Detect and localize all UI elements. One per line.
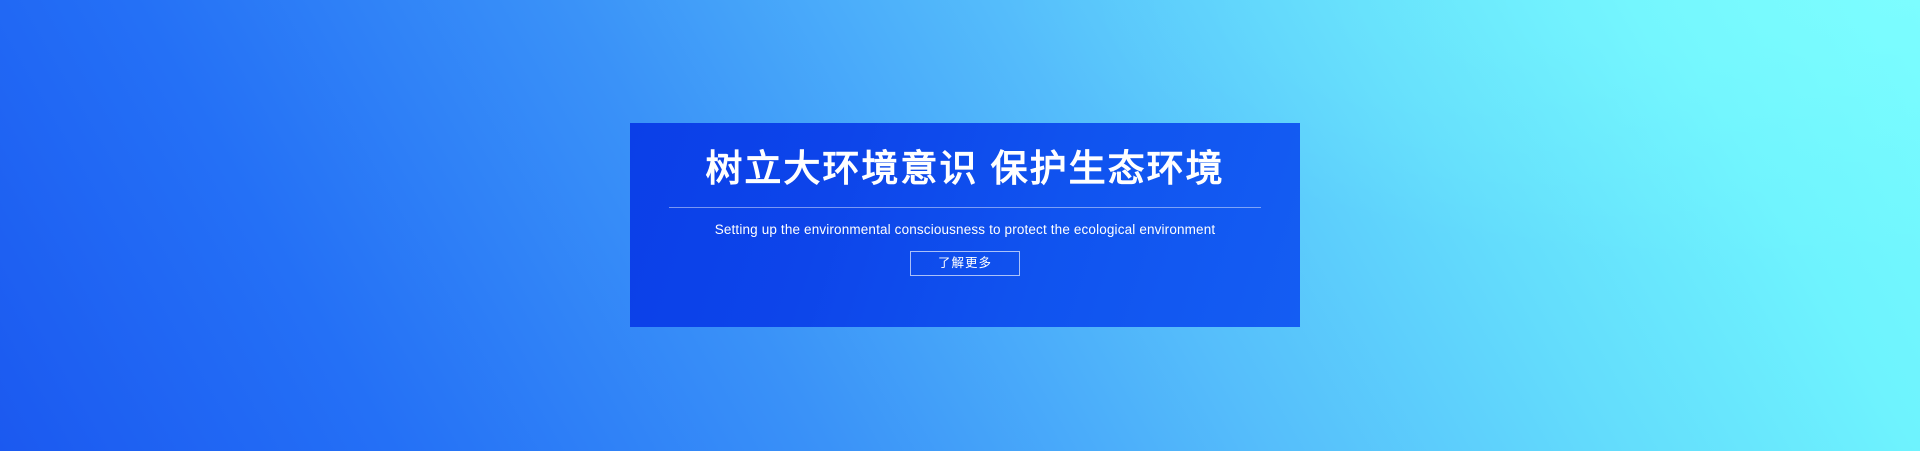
title-divider	[669, 207, 1261, 208]
page-title: 树立大环境意识 保护生态环境	[705, 147, 1224, 191]
learn-more-button[interactable]: 了解更多	[910, 251, 1020, 276]
page-subtitle: Setting up the environmental consciousne…	[715, 222, 1216, 237]
hero-card: 树立大环境意识 保护生态环境 Setting up the environmen…	[630, 123, 1300, 327]
hero-banner: 树立大环境意识 保护生态环境 Setting up the environmen…	[0, 0, 1920, 451]
